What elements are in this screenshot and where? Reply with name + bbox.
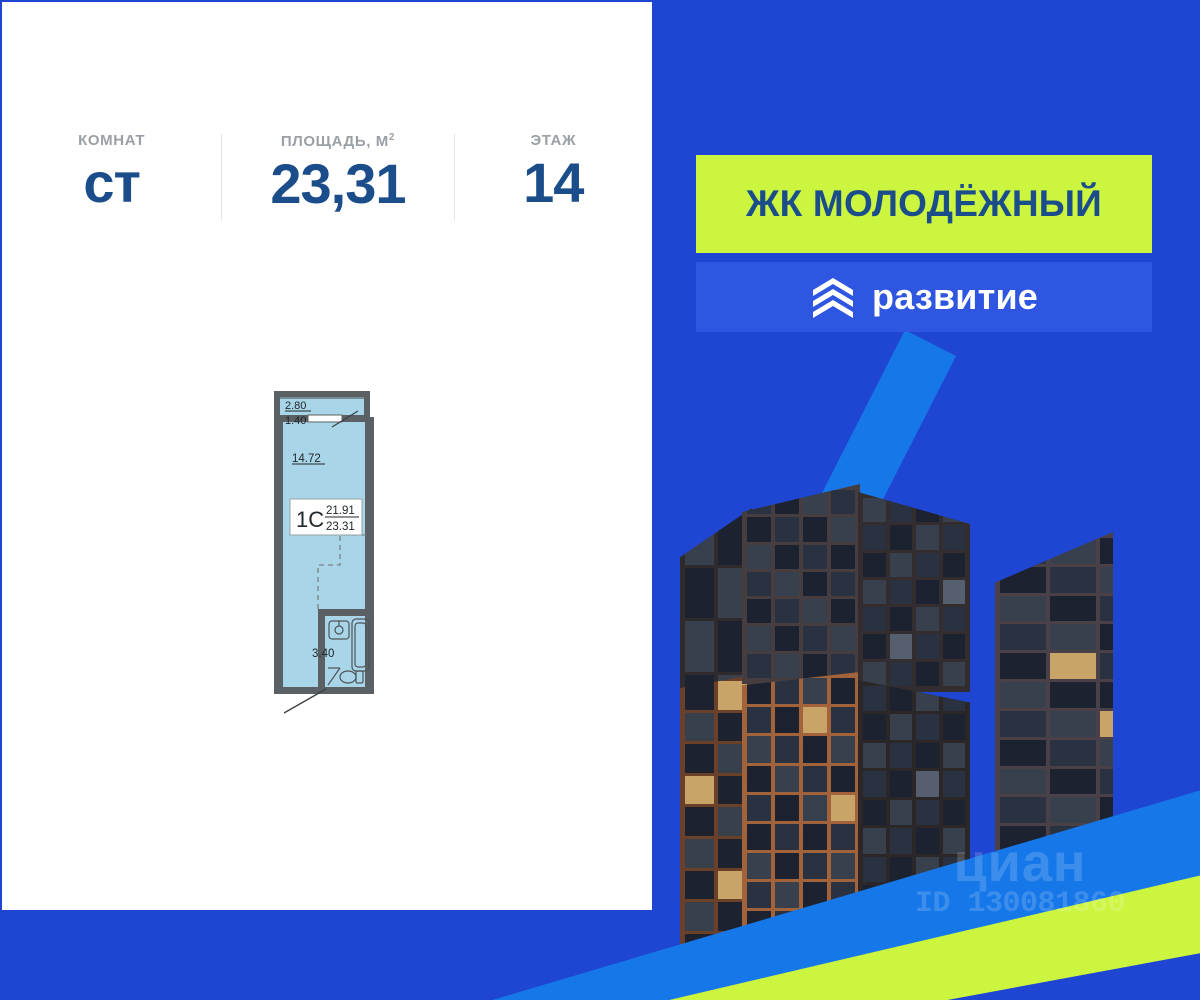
stat-floor: ЭТАЖ 14: [455, 132, 652, 211]
floorplan-card: КОМНАТ ст ПЛОЩАДЬ, М2 23,31 ЭТАЖ 14: [2, 2, 652, 910]
plan-area-living: 21.91: [326, 505, 355, 517]
triple-chevron-up-icon: [810, 275, 856, 319]
developer-badge: развитие: [696, 262, 1152, 332]
plan-label-balcony-depth: 2.80: [285, 400, 306, 412]
plan-label-balcony-area: 1.40: [285, 415, 306, 427]
complex-name-label: ЖК МОЛОДЁЖНЫЙ: [746, 183, 1102, 225]
plan-area-total: 23.31: [326, 521, 355, 533]
plan-label-main-room: 14.72: [292, 453, 321, 465]
plan-apartment-code: 1С: [296, 507, 324, 532]
floor-plan: 2.80 1.40 14.72 3.40 1С 21.91 23.31: [270, 387, 390, 717]
stat-area-label-sup: 2: [389, 132, 395, 143]
complex-name-badge: ЖК МОЛОДЁЖНЫЙ: [696, 155, 1152, 253]
plan-apartment-code-box: 1С 21.91 23.31: [290, 499, 362, 535]
stat-rooms-value: ст: [83, 155, 140, 211]
stat-area-label: ПЛОЩАДЬ, М2: [281, 132, 395, 150]
stat-area-label-text: ПЛОЩАДЬ, М: [281, 133, 389, 150]
developer-label: развитие: [872, 276, 1038, 318]
stat-area-value: 23,31: [270, 156, 405, 212]
stat-rooms: КОМНАТ ст: [2, 132, 221, 211]
stat-area: ПЛОЩАДЬ, М2 23,31: [222, 132, 453, 212]
plan-window: [308, 415, 342, 422]
stat-rooms-label: КОМНАТ: [78, 132, 145, 149]
stat-floor-value: 14: [523, 155, 583, 211]
building-primary-face-right-upper: [858, 492, 970, 692]
apartment-stats-row: КОМНАТ ст ПЛОЩАДЬ, М2 23,31 ЭТАЖ 14: [2, 132, 652, 220]
listing-floorplan-card: циан ID 130081860 КОМНАТ ст ПЛОЩАДЬ, М2 …: [0, 0, 1200, 1000]
plan-label-bathroom: 3.40: [312, 648, 334, 660]
building-primary-face-front-upper: [742, 484, 860, 684]
stat-floor-label: ЭТАЖ: [530, 132, 576, 149]
